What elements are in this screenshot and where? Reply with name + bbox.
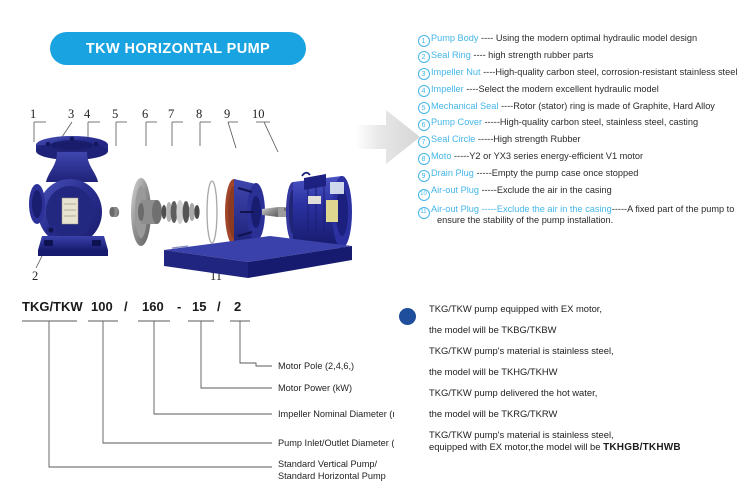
legend-term: Pump Body <box>431 33 479 43</box>
legend-index-6: 6 <box>416 117 431 131</box>
list-item: 9 Drain Plug -----Empty the pump case on… <box>416 168 756 182</box>
callout-4: 4 <box>84 107 91 121</box>
model-label-pole: Motor Pole (2,4,6,) <box>278 361 354 371</box>
legend-desc: ----Select the modern excellent hydrauli… <box>464 84 659 94</box>
list-item: 3 Impeller Nut ----High-quality carbon s… <box>416 67 756 81</box>
model-separator-1: / <box>124 299 128 314</box>
model-label-power: Motor Power (kW) <box>278 383 352 393</box>
list-item: 6 Pump Cover -----High-quality carbon st… <box>416 117 756 131</box>
legend-term: Air-out Plug <box>431 185 479 195</box>
legend-term: Pump Cover <box>431 117 482 127</box>
mechanical-seal-part <box>162 200 200 224</box>
legend-term: Moto <box>431 151 451 161</box>
note-line: the model will be TKBG/TKBW <box>429 325 749 334</box>
legend-index-9: 9 <box>416 168 431 182</box>
list-item: 1 Pump Body ---- Using the modern optima… <box>416 33 756 47</box>
callout-3: 3 <box>68 107 74 121</box>
note-line: the model will be TKHG/TKHW <box>429 367 749 376</box>
legend-desc: ----Rotor (stator) ring is made of Graph… <box>498 101 714 111</box>
legend-desc: ----High-quality carbon steel, corrosion… <box>481 67 738 77</box>
impeller-nut-part <box>109 207 119 217</box>
bullet-dot-icon <box>399 308 416 325</box>
note-line: TKG/TKW pump delivered the hot water, <box>429 388 749 397</box>
note-line-last: equipped with EX motor,the model will be… <box>429 442 749 453</box>
legend-term: Air-out Plug -----Exclude the air in the… <box>431 204 612 214</box>
note-line: the model will be TKRG/TKRW <box>429 409 749 418</box>
motor-part <box>286 173 352 248</box>
legend-desc: -----Empty the pump case once stopped <box>474 168 638 178</box>
legend-desc: -----Y2 or YX3 series energy-efficient V… <box>451 151 643 161</box>
callout-1: 1 <box>30 107 36 121</box>
model-segment-impeller: 160 <box>142 299 164 314</box>
list-item: 8 Moto -----Y2 or YX3 series energy-effi… <box>416 151 756 165</box>
legend-index-3: 3 <box>416 67 431 81</box>
callout-7: 7 <box>168 107 174 121</box>
page-title: TKW HORIZONTAL PUMP <box>86 41 270 57</box>
model-separator-2: - <box>177 299 181 314</box>
legend-index-5: 5 <box>416 101 431 115</box>
legend-index-8: 8 <box>416 151 431 165</box>
model-label-horizontal: Standard Horizontal Pump <box>278 471 386 481</box>
model-segment-series: TKG/TKW <box>22 299 83 314</box>
legend-term: Mechanical Seal <box>431 101 498 111</box>
model-label-vertical: Standard Vertical Pump/ <box>278 459 378 469</box>
legend-desc: -----High strength Rubber <box>475 134 580 144</box>
list-item: 4 Impeller ----Select the modern excelle… <box>416 84 756 98</box>
legend-desc: -----High-quality carbon steel, stainles… <box>482 117 698 127</box>
callout-9: 9 <box>224 107 230 121</box>
legend-desc: -----A fixed part of the pump to <box>612 204 735 214</box>
legend-desc: ---- high strength rubber parts <box>471 50 594 60</box>
note-line: TKG/TKW pump equipped with EX motor, <box>429 304 749 313</box>
model-label-inlet: Pump Inlet/Outlet Diameter (mm) <box>278 438 394 448</box>
legend-term: Seal Circle <box>431 134 475 144</box>
parts-legend-list: 1 Pump Body ---- Using the modern optima… <box>416 33 756 229</box>
seal-circle-part <box>207 181 217 243</box>
legend-desc: ---- Using the modern optimal hydraulic … <box>479 33 698 43</box>
model-label-impeller: Impeller Nominal Diameter (mm) <box>278 409 394 419</box>
legend-index-2: 2 <box>416 50 431 64</box>
list-item: 10 Air-out Plug -----Exclude the air in … <box>416 185 756 201</box>
model-leader-lines <box>49 321 272 467</box>
model-segment-inlet: 100 <box>91 299 113 314</box>
legend-desc: -----Exclude the air in the casing <box>479 185 612 195</box>
legend-desc-continued: ensure the stability of the pump install… <box>431 215 756 226</box>
model-separator-3: / <box>217 299 221 314</box>
legend-term: Seal Ring <box>431 50 471 60</box>
exploded-pump-assembly-figure: 1 3 4 5 6 7 8 9 10 2 11 <box>12 100 372 285</box>
model-naming-notes: TKG/TKW pump equipped with EX motor, the… <box>399 304 749 465</box>
right-arrow-icon <box>356 106 422 168</box>
note-line: TKG/TKW pump's material is stainless ste… <box>429 346 749 355</box>
impeller-part <box>131 178 162 246</box>
callout-5: 5 <box>112 107 118 121</box>
model-segment-power: 15 <box>192 299 206 314</box>
legend-index-10: 10 <box>416 185 431 201</box>
note-line: TKG/TKW pump's material is stainless ste… <box>429 430 749 439</box>
pump-cover-part <box>225 179 265 245</box>
list-item: 7 Seal Circle -----High strength Rubber <box>416 134 756 148</box>
legend-index-7: 7 <box>416 134 431 148</box>
pump-body-part <box>29 136 108 256</box>
legend-index-1: 1 <box>416 33 431 47</box>
model-code-breakdown: TKG/TKW 100 / 160 - 15 / 2 <box>14 296 394 494</box>
note-last-model: TKHGB/TKHWB <box>603 442 681 453</box>
list-item: 2 Seal Ring ---- high strength rubber pa… <box>416 50 756 64</box>
list-item: 11 Air-out Plug -----Exclude the air in … <box>416 204 756 226</box>
legend-term: Impeller <box>431 84 464 94</box>
note-last-prefix: equipped with EX motor,the model will be <box>429 441 603 452</box>
list-item: 5 Mechanical Seal ----Rotor (stator) rin… <box>416 101 756 115</box>
legend-index-4: 4 <box>416 84 431 98</box>
model-segment-pole: 2 <box>234 299 241 314</box>
callout-10: 10 <box>252 107 265 121</box>
callout-2: 2 <box>32 269 38 283</box>
page-title-banner: TKW HORIZONTAL PUMP <box>50 32 306 65</box>
callout-6: 6 <box>142 107 148 121</box>
legend-term: Impeller Nut <box>431 67 481 77</box>
legend-term: Drain Plug <box>431 168 474 178</box>
callout-8: 8 <box>196 107 202 121</box>
legend-index-11: 11 <box>416 204 431 220</box>
